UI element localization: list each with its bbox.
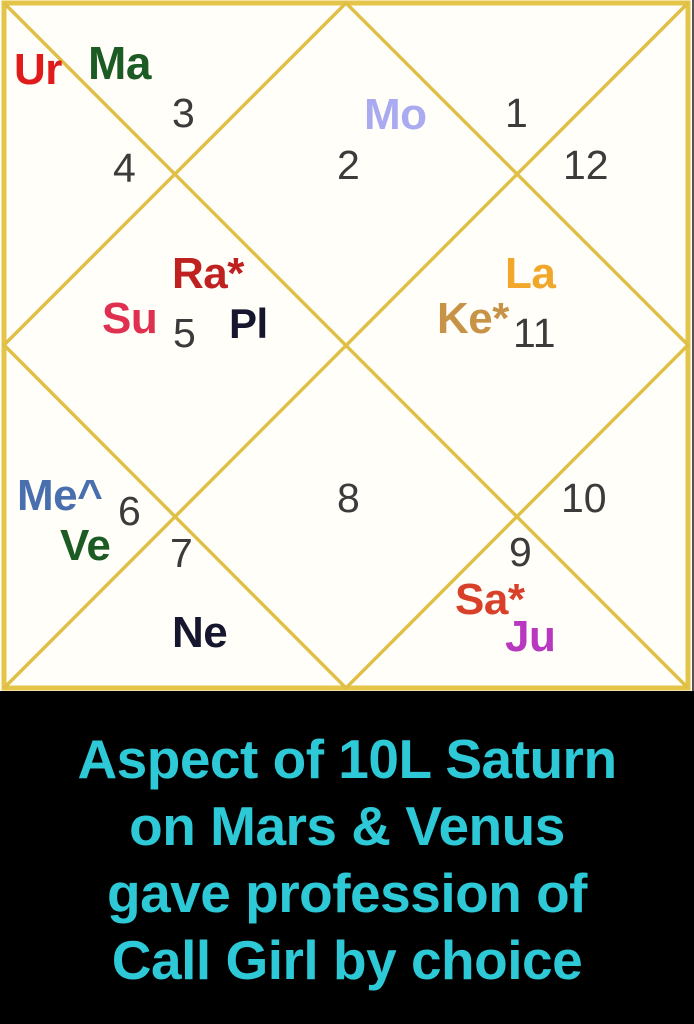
planet-label-ketu: Ke* [437, 297, 509, 341]
planet-label-venus: Ve [60, 524, 110, 568]
planet-label-lagna: La [505, 252, 555, 296]
planet-label-uranus: Ur [14, 48, 62, 92]
house-number: 8 [337, 478, 360, 519]
planet-label-mars: Ma [88, 40, 151, 86]
house-number: 4 [113, 148, 136, 189]
screenshot-root: 1 2 3 4 5 6 7 8 9 10 11 12 Ur Ma Mo Ra* … [0, 0, 694, 1024]
house-number: 10 [561, 478, 607, 519]
house-number: 3 [172, 93, 195, 134]
house-number: 1 [505, 93, 528, 134]
chart-grid-lines [0, 0, 694, 691]
caption-line-2: on Mars & Venus [129, 793, 565, 860]
caption-line-1: Aspect of 10L Saturn [77, 726, 616, 793]
house-number: 12 [563, 145, 609, 186]
planet-label-neptune: Ne [172, 611, 227, 655]
planet-label-rahu: Ra* [172, 252, 244, 296]
planet-label-mercury: Me^ [17, 474, 102, 518]
caption-line-4: Call Girl by choice [112, 927, 582, 994]
planet-label-pluto: Pl [229, 303, 268, 345]
caption-line-3: gave profession of [107, 860, 587, 927]
planet-label-sun: Su [102, 297, 157, 341]
planet-label-moon: Mo [364, 93, 427, 137]
vedic-birth-chart: 1 2 3 4 5 6 7 8 9 10 11 12 Ur Ma Mo Ra* … [0, 0, 694, 691]
house-number: 7 [170, 533, 193, 574]
house-number: 6 [118, 491, 141, 532]
house-number: 9 [509, 532, 532, 573]
house-number: 2 [337, 145, 360, 186]
caption-band: Aspect of 10L Saturn on Mars & Venus gav… [0, 691, 694, 1024]
house-number: 5 [173, 313, 196, 354]
house-number: 11 [513, 313, 556, 354]
planet-label-jupiter: Ju [505, 615, 555, 659]
